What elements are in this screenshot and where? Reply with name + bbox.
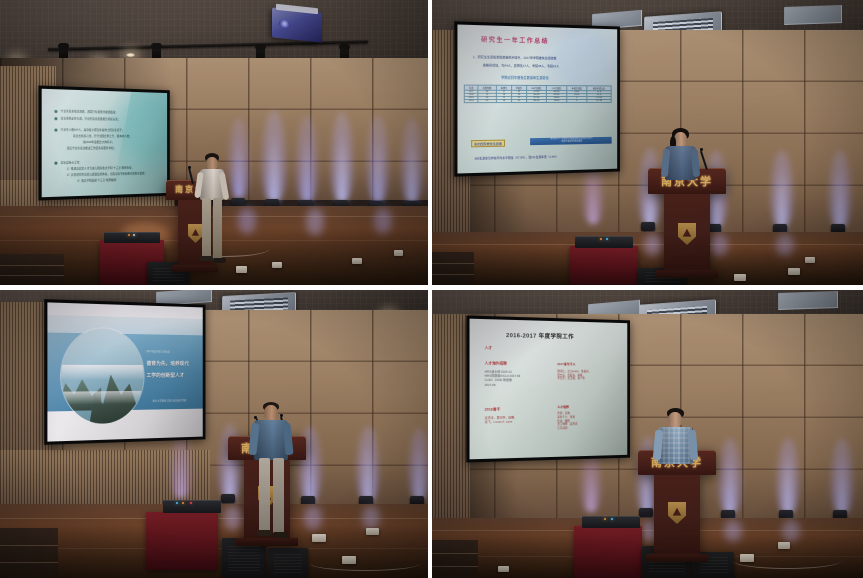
- floor-reflection: [776, 234, 794, 256]
- stage-steps: [432, 252, 474, 285]
- slide-left-heading: 人才海外招聘: [485, 361, 507, 366]
- status-led: [611, 518, 613, 520]
- status-led: [182, 502, 184, 504]
- presenter-figure: [662, 128, 702, 180]
- slide-subtitle-line: 量略有增加，为84人，直博生17人，学硕45人，专硕22人: [483, 64, 559, 69]
- slide-circular-photo: [61, 328, 144, 425]
- av-table: [570, 246, 638, 285]
- table-cell: 100%: [547, 99, 567, 102]
- stage-uplight: [408, 428, 428, 500]
- presenter-shoe: [200, 256, 213, 261]
- floor-reflection: [306, 208, 324, 236]
- stage-marker-block: [236, 266, 247, 273]
- projection-screen: 2016-2017 年度学院工作 人才 人才海外招聘 MRS波士顿 2016-1…: [466, 315, 630, 462]
- presenter-leg-left: [259, 458, 270, 532]
- projection-screen: 研究生一年工作总结 1、研究生生源和录取质量稳步提升，2017年学院推免生招收数…: [454, 21, 620, 176]
- slide-bullet-text: 和2016年度相比大体持平；: [83, 141, 114, 144]
- table-row: 2014 22 19 14 88.4% 100% 0 1:0.18: [465, 99, 611, 102]
- slide-section-label: 人才: [485, 346, 492, 351]
- ceiling-panel-right-icon: [778, 291, 838, 310]
- head-shading: [264, 405, 278, 421]
- table-cell: 14: [511, 99, 526, 102]
- slide-table-caption: 学院近四年推免生数量和生源变化: [501, 74, 549, 79]
- slide-right-heading: 2017青年千人: [557, 362, 575, 366]
- slide-title: 2016-2017 年度学院工作: [506, 331, 574, 341]
- status-led: [133, 234, 135, 236]
- photo-collage: 毕业生基本情况调研，巩固已有成果并继续跟进； 就业率稳定在九成，毕业生就业质量报…: [0, 0, 863, 578]
- slide-bullet-text: 3）落实学院发展“十三五”规划编制: [77, 179, 116, 183]
- stage-marker-block: [788, 268, 800, 275]
- floor-reflection: [782, 520, 800, 542]
- bullet-dot: [54, 129, 57, 132]
- av-table: [146, 512, 218, 570]
- slide-bottom-right: 2016-2017 年度学院工作 人才 人才海外招聘 MRS波士顿 2016-1…: [470, 319, 628, 460]
- lectern-base: [656, 270, 718, 278]
- av-mixer-deck: [104, 232, 160, 243]
- lectern-base: [646, 554, 708, 562]
- table-cell: 88.4%: [526, 99, 546, 102]
- status-led: [604, 518, 606, 520]
- stage-marker-block: [352, 258, 362, 264]
- av-mixer-deck: [163, 500, 221, 513]
- recessed-downlight-icon: [126, 53, 135, 57]
- slide-right-lines-2: 杰青：吴迪青年千人：朱嘉优青：魏辉长江特聘：袁洪涛江苏双创：: [557, 412, 577, 431]
- slide-right-heading-2: 人才培养: [557, 405, 569, 409]
- left-line-2: 谈飞，Lucas A. Lane: [485, 420, 513, 424]
- floor-reflection: [362, 506, 380, 530]
- slide-title: 研究生一年工作总结: [481, 34, 549, 45]
- table-cell: 2014: [465, 99, 478, 102]
- presenter-leg-left: [202, 198, 211, 258]
- slide-highlight-tag: 新的国家推免生政策: [471, 140, 505, 148]
- bullet-dot: [54, 110, 57, 113]
- table-cell: 22: [478, 99, 497, 102]
- floor-cable: [310, 556, 420, 571]
- stage-marker-block: [778, 542, 790, 549]
- stage-steps: [432, 540, 478, 578]
- floor-reflection: [238, 208, 256, 234]
- photo-panel-bottom-left: 2017年度学院工作会议 德育为先，培养现代 工学的创新型人才 南京大学现代工程…: [0, 290, 428, 578]
- right-line-2: 青年千人：朱嘉: [557, 416, 575, 419]
- slide-callout-tag: 教育部2017年推免生政策调整对我校影响较小 优质生源竞争更加激烈: [530, 137, 612, 145]
- slide-bullet-text: 落实毕业生就业推进工作及各项服务举措；: [67, 147, 116, 150]
- callout-line: 优质生源竞争更加激烈: [561, 141, 582, 143]
- right-line-2: 杰青：吴迪: [557, 412, 570, 415]
- photo-panel-top-left: 毕业生基本情况调研，巩固已有成果并继续跟进； 就业率稳定在九成，毕业生就业质量报…: [0, 0, 428, 285]
- slide-bullet-text: 毕业生人数547人，其中硕士研究生和博士研究生若干；: [61, 129, 125, 133]
- projection-screen: 毕业生基本情况调研，巩固已有成果并继续跟进； 就业率稳定在九成，毕业生就业质量报…: [38, 85, 169, 200]
- stage-marker-block: [366, 528, 379, 535]
- bullet-dot: [54, 162, 57, 165]
- stage-steps: [0, 254, 64, 285]
- slide-headline-line2: 工学的创新型人才: [146, 373, 184, 380]
- floor-reflection: [304, 506, 322, 530]
- presenter-shoe: [273, 532, 288, 538]
- photo-panel-bottom-right: 2016-2017 年度学院工作 人才 人才海外招聘 MRS波士顿 2016-1…: [432, 290, 863, 578]
- screen-surface: 2016-2017 年度学院工作 人才 人才海外招聘 MRS波士顿 2016-1…: [470, 319, 628, 460]
- status-led: [606, 238, 608, 240]
- stage-marker-block: [312, 534, 326, 542]
- slide-headline-line1: 德育为先，培养现代: [146, 361, 188, 368]
- screen-surface: 毕业生基本情况调研，巩固已有成果并继续跟进； 就业率稳定在九成，毕业生就业质量报…: [42, 89, 167, 198]
- lectern: 南京大学: [638, 450, 716, 562]
- slide-footnote: 985生源率与学校平均水平相当（67.5%），较211生源率低（1.5%）: [474, 155, 558, 161]
- stage-marker-block: [805, 257, 815, 263]
- slide-bottom-left: 2017年度学院工作会议 德育为先，培养现代 工学的创新型人才 南京大学现代工程…: [47, 302, 202, 441]
- slide-wedge-decoration: [112, 91, 167, 195]
- table-cell: 0: [566, 99, 587, 102]
- stage-marker-block: [498, 566, 509, 572]
- presenter-shoe: [213, 258, 226, 263]
- presenter-head: [668, 412, 682, 428]
- slide-byline: 南京大学现代工程与应用科学学院: [153, 398, 187, 402]
- table-cell: 19: [496, 99, 511, 102]
- slide-bullet-text: 就业率稳定在九成，毕业生就业质量报告持续完善；: [61, 117, 121, 121]
- left-line: 2017-06: [485, 382, 496, 386]
- slide-left-lines: MRS波士顿 2016-12MRS凤凰城/UCLA 2017-03CLEO JO…: [485, 369, 521, 386]
- presenter-figure: [194, 153, 234, 265]
- slide-right-lines: 谭海仁，吴小ericht，朱嘉冉，曾志远，张程喜，钟俊，李昱才，张玉峰，黄少华: [557, 370, 591, 381]
- presenter-leg-right: [273, 458, 284, 534]
- presenter-figure: [250, 402, 294, 542]
- bullet-dot: [54, 117, 57, 120]
- ceiling-projector-icon: [272, 7, 322, 42]
- ceiling-panel-right-icon: [784, 5, 842, 25]
- floor-reflection: [724, 520, 742, 542]
- av-table: [574, 526, 642, 578]
- photo-mist: [61, 365, 144, 380]
- table-cell: 1:0.18: [587, 99, 611, 102]
- slide-left-lines-2: 袁洪涛，夏可宇，田野，谈飞，Lucas A. Lane: [485, 415, 518, 424]
- presenter-arm-right: [691, 149, 700, 178]
- stage-marker-block: [734, 274, 746, 281]
- slide-top-right: 研究生一年工作总结 1、研究生生源和录取质量稳步提升，2017年学院推免生招收数…: [457, 25, 617, 174]
- slide-subtitle-line: 1、研究生生源和录取质量稳步提升，2017年学院推免生招收数: [473, 55, 557, 61]
- right-line: 谭海仁，吴小ericht，朱嘉冉，: [557, 370, 591, 373]
- presenter-figure: [654, 408, 698, 464]
- right-line-2: 江苏双创：: [557, 427, 570, 430]
- presenter-leg-right: [213, 198, 222, 260]
- lectern: 南京大学: [648, 168, 726, 278]
- status-led: [128, 234, 130, 236]
- presenter-arm-right: [688, 430, 699, 461]
- projection-screen: 2017年度学院工作会议 德育为先，培养现代 工学的创新型人才 南京大学现代工程…: [44, 299, 205, 445]
- stage-steps: [0, 528, 58, 578]
- floor-cable: [732, 552, 842, 569]
- presenter-shoe: [257, 530, 272, 536]
- enrollment-table: 年度 总推免数 直博生 学硕生 985生源比 211生源比 本校生源比 校外申请…: [464, 84, 611, 103]
- status-led: [176, 502, 178, 504]
- fluted-wood-wall: [432, 314, 470, 526]
- right-line: 李昱才，张玉峰，黄少华: [557, 377, 585, 380]
- slide-left-heading-2: 2016青千: [485, 407, 501, 412]
- screen-surface: 2017年度学院工作会议 德育为先，培养现代 工学的创新型人才 南京大学现代工程…: [47, 302, 202, 441]
- lectern-base: [172, 265, 218, 272]
- stage-marker-block: [272, 262, 282, 268]
- photo-panel-top-right: 研究生一年工作总结 1、研究生生源和录取质量稳步提升，2017年学院推免生招收数…: [432, 0, 863, 285]
- floor-monitor-speaker-2: [268, 548, 308, 578]
- head-shading: [668, 412, 682, 428]
- floor-reflection: [374, 208, 392, 234]
- photo-low-mist: [61, 391, 144, 405]
- presenter-head: [264, 405, 278, 421]
- screen-surface: 研究生一年工作总结 1、研究生生源和录取质量稳步提升，2017年学院推免生招收数…: [457, 25, 617, 174]
- status-led: [190, 502, 192, 504]
- slide-bullet-text: 本年度重点工作：: [61, 161, 82, 165]
- slide-top-left: 毕业生基本情况调研，巩固已有成果并继续跟进； 就业率稳定在九成，毕业生就业质量报…: [42, 89, 167, 198]
- status-led: [600, 238, 602, 240]
- av-mixer-deck: [575, 236, 633, 248]
- slide-bullet-text: 就业去向多元化，升学出国比例上升，留本地人数；: [73, 135, 132, 138]
- slide-kicker: 2017年度学院工作会议: [146, 349, 169, 353]
- microphone-head-icon: [188, 166, 191, 169]
- stage-marker-block: [394, 250, 403, 256]
- slide-bullet-text: 毕业生基本情况调研，巩固已有成果并继续跟进；: [61, 110, 118, 114]
- projector-lens-icon: [279, 19, 290, 28]
